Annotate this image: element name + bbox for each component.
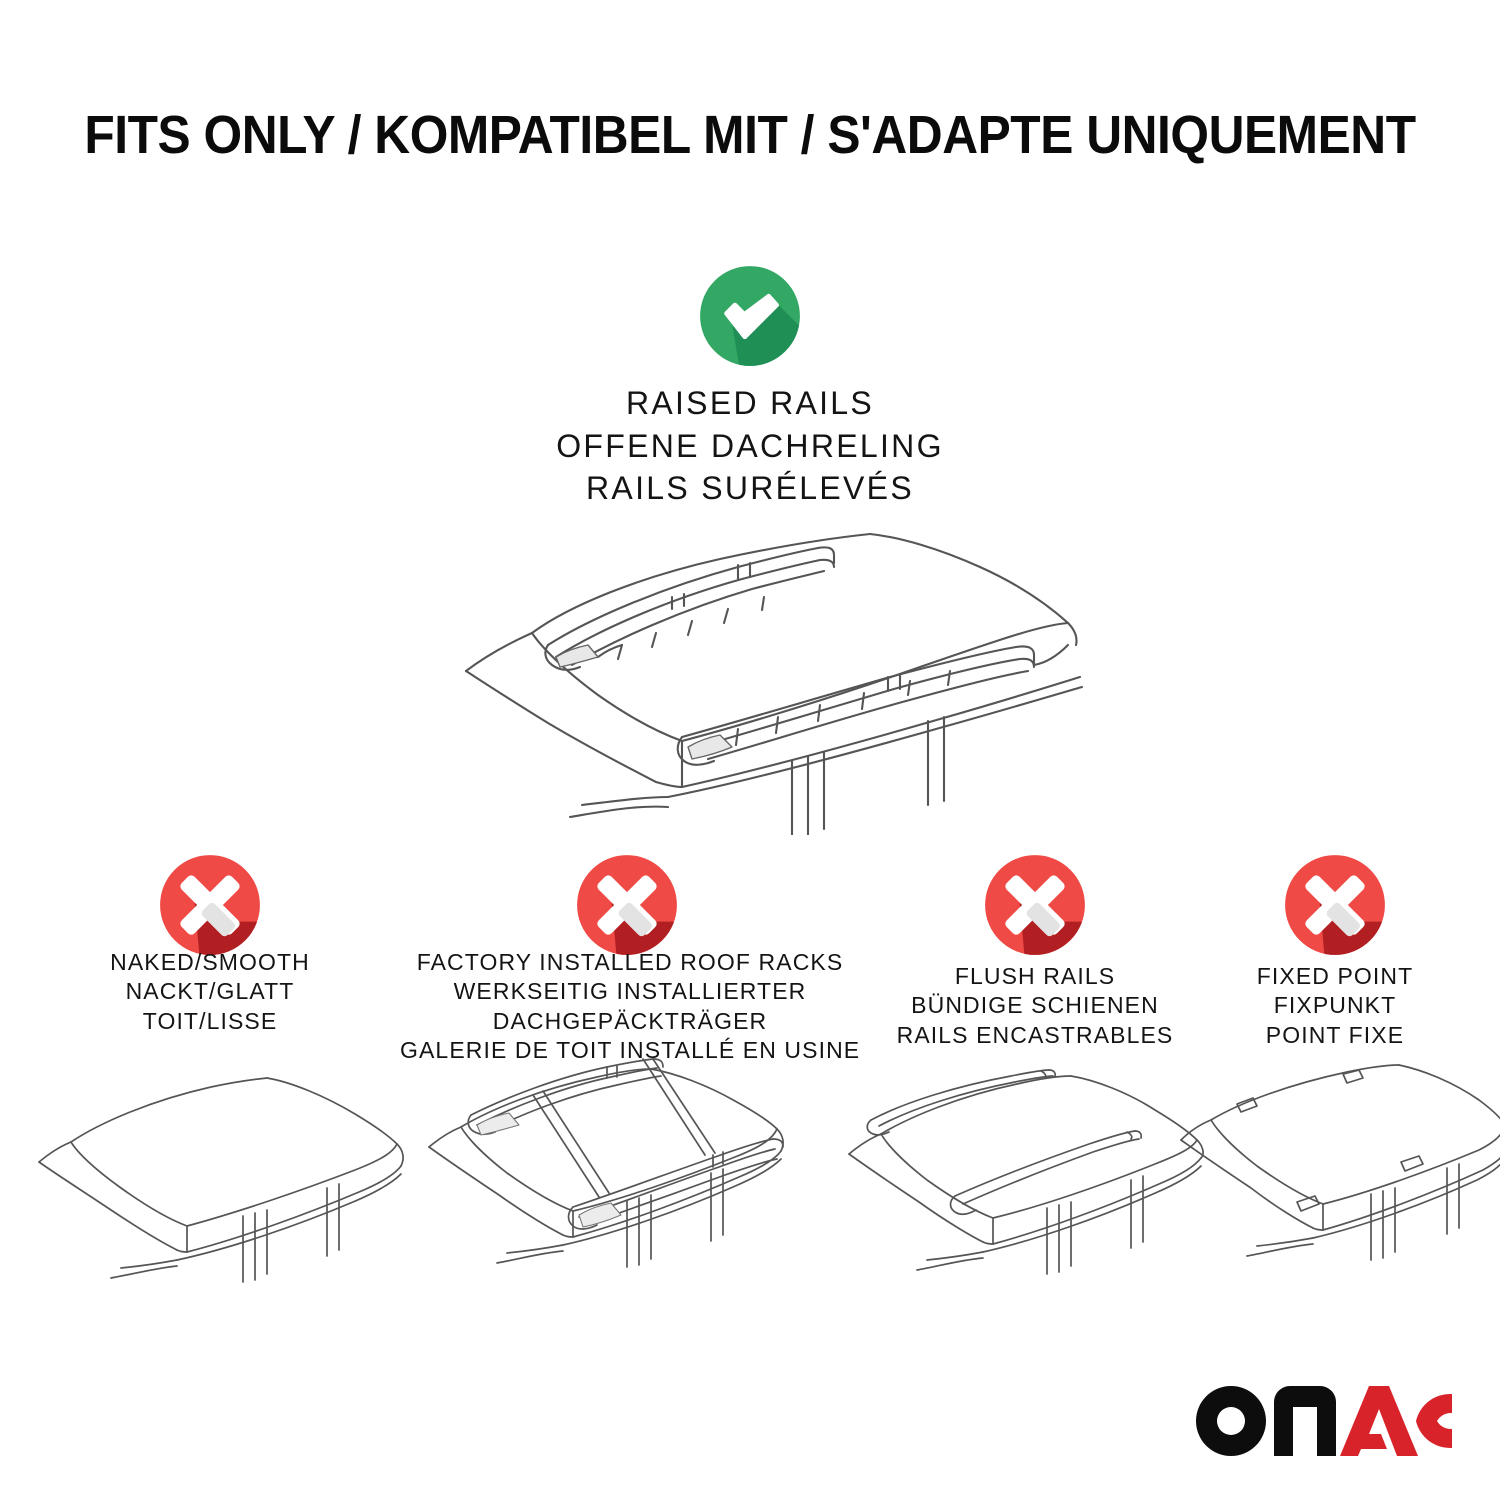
incompatible-caption-1: NAKED/SMOOTH NACKT/GLATT TOIT/LISSE	[30, 948, 390, 1036]
car-roof-raised-rails-illustration	[420, 505, 1090, 835]
incompatible-4-line-de: FIXPUNKT	[1175, 991, 1495, 1020]
cross-circle-icon	[1283, 853, 1387, 957]
car-roof-factory-racks-illustration	[415, 1055, 805, 1310]
car-roof-naked-smooth-illustration	[25, 1060, 415, 1310]
incompatible-3-line-en: FLUSH RAILS	[855, 962, 1215, 991]
cross-circle-icon	[158, 853, 262, 957]
incompatible-3-line-de: BÜNDIGE SCHIENEN	[855, 991, 1215, 1020]
incompatible-2-line-en: FACTORY INSTALLED ROOF RACKS	[400, 948, 860, 977]
page-title: FITS ONLY / KOMPATIBEL MIT / S'ADAPTE UN…	[60, 104, 1440, 166]
incompatible-4-line-fr: POINT FIXE	[1175, 1021, 1495, 1050]
incompatible-4-line-en: FIXED POINT	[1175, 962, 1495, 991]
incompatible-1-line-fr: TOIT/LISSE	[30, 1007, 390, 1036]
incompatible-1-line-de: NACKT/GLATT	[30, 977, 390, 1006]
incompatible-3-line-fr: RAILS ENCASTRABLES	[855, 1021, 1215, 1050]
incompatible-caption-3: FLUSH RAILS BÜNDIGE SCHIENEN RAILS ENCAS…	[855, 962, 1215, 1050]
compatible-line-en: RAISED RAILS	[350, 382, 1150, 425]
incompatible-2-line-de-2: DACHGEPÄCKTRÄGER	[400, 1007, 860, 1036]
cross-circle-icon	[575, 853, 679, 957]
check-circle-icon	[698, 264, 802, 368]
omac-logo	[1194, 1384, 1452, 1458]
incompatible-caption-4: FIXED POINT FIXPUNKT POINT FIXE	[1175, 962, 1495, 1050]
compatible-line-de: OFFENE DACHRELING	[350, 425, 1150, 468]
car-roof-fixed-point-illustration	[1175, 1060, 1500, 1310]
compatible-line-fr: RAILS SURÉLEVÉS	[350, 467, 1150, 510]
incompatible-1-line-en: NAKED/SMOOTH	[30, 948, 390, 977]
compatible-caption: RAISED RAILS OFFENE DACHRELING RAILS SUR…	[350, 382, 1150, 510]
car-roof-flush-rails-illustration	[835, 1060, 1225, 1310]
incompatible-2-line-de-1: WERKSEITIG INSTALLIERTER	[400, 977, 860, 1006]
incompatible-caption-2: FACTORY INSTALLED ROOF RACKS WERKSEITIG …	[400, 948, 860, 1066]
cross-circle-icon	[983, 853, 1087, 957]
